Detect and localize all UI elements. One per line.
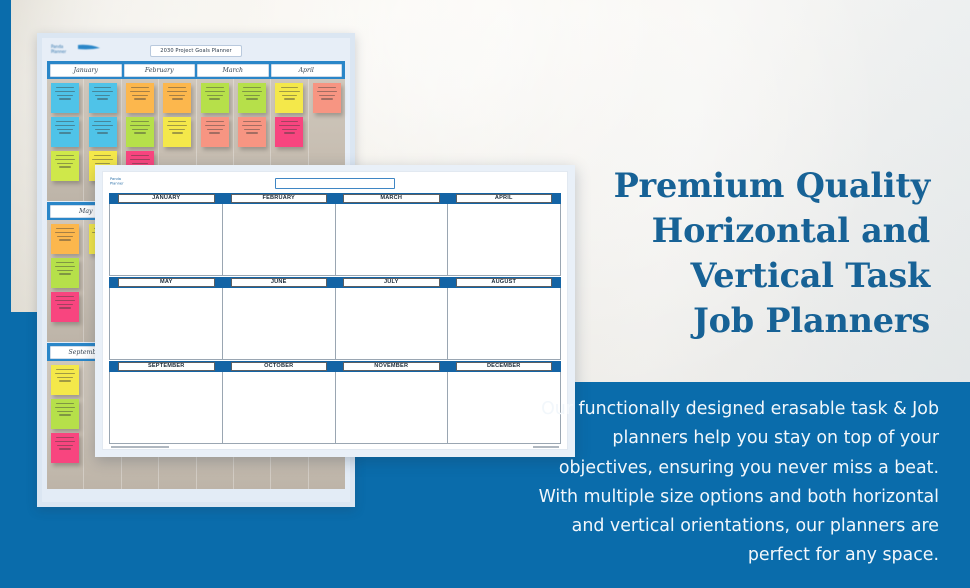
month-cells-row-3: [109, 372, 561, 444]
sticky-note[interactable]: [201, 117, 229, 147]
sticky-note[interactable]: [51, 224, 79, 254]
sticky-note[interactable]: [163, 117, 191, 147]
planner-title-input[interactable]: [275, 178, 395, 189]
sticky-note[interactable]: [51, 258, 79, 288]
month-label-january: January: [50, 64, 122, 77]
month-column: [47, 361, 84, 489]
month-label-april: April: [271, 64, 343, 77]
front-planner-row-1: JANUARY FEBRUARY MARCH APRIL: [109, 193, 561, 276]
month-cell-september[interactable]: [110, 372, 223, 443]
sticky-note[interactable]: [238, 83, 266, 113]
sticky-note[interactable]: [313, 83, 341, 113]
sticky-note[interactable]: [51, 433, 79, 463]
month-label-september: SEPTEMBER: [118, 362, 215, 371]
brand-logo-icon: Panda Planner: [110, 175, 152, 187]
month-cells-row-1: [109, 204, 561, 276]
month-label-june: JUNE: [231, 278, 328, 287]
sticky-note[interactable]: [126, 83, 154, 113]
headline-line-2: Horizontal and: [530, 208, 930, 253]
month-label-november: NOVEMBER: [343, 362, 440, 371]
description-paragraph: Our functionally designed erasable task …: [519, 395, 939, 571]
month-label-march: MARCH: [343, 194, 440, 203]
footer-mark-left: [111, 446, 169, 448]
month-cell-june[interactable]: [223, 288, 336, 359]
month-label-october: OCTOBER: [231, 362, 328, 371]
month-cell-october[interactable]: [223, 372, 336, 443]
month-label-december: DECEMBER: [456, 362, 553, 371]
back-planner-footer: [47, 490, 345, 492]
month-header-bar: JANUARY FEBRUARY MARCH APRIL: [109, 193, 561, 204]
svg-text:Panda: Panda: [110, 177, 121, 181]
front-planner-footer: [109, 445, 561, 448]
sticky-note[interactable]: [89, 117, 117, 147]
sticky-note[interactable]: [126, 117, 154, 147]
sticky-note[interactable]: [275, 117, 303, 147]
front-planner-product-image[interactable]: Panda Planner JANUARY FEBRUARY MARCH APR…: [95, 165, 575, 457]
svg-text:Planner: Planner: [110, 181, 124, 185]
sticky-note[interactable]: [51, 151, 79, 181]
month-label-may: MAY: [118, 278, 215, 287]
front-planner-row-3: SEPTEMBER OCTOBER NOVEMBER DECEMBER: [109, 361, 561, 444]
month-cell-november[interactable]: [336, 372, 449, 443]
sticky-note[interactable]: [51, 292, 79, 322]
month-label-january: JANUARY: [118, 194, 215, 203]
sticky-note[interactable]: [163, 83, 191, 113]
left-blue-edge: [0, 0, 11, 390]
month-label-july: JULY: [343, 278, 440, 287]
month-header-bar: MAY JUNE JULY AUGUST: [109, 277, 561, 288]
front-planner-sheet: Panda Planner JANUARY FEBRUARY MARCH APR…: [102, 171, 568, 450]
month-label-february: February: [124, 64, 196, 77]
month-cell-may[interactable]: [110, 288, 223, 359]
front-planner-row-2: MAY JUNE JULY AUGUST: [109, 277, 561, 360]
page-title: Premium Quality Horizontal and Vertical …: [530, 163, 930, 343]
month-cell-march[interactable]: [336, 204, 449, 275]
promo-banner: Panda Planner 2030 Project Goals Planner…: [0, 0, 970, 588]
sticky-note[interactable]: [89, 83, 117, 113]
month-cell-july[interactable]: [336, 288, 449, 359]
month-header-bar: January February March April: [47, 61, 345, 79]
back-planner-title: 2030 Project Goals Planner: [150, 45, 242, 57]
month-header-bar: SEPTEMBER OCTOBER NOVEMBER DECEMBER: [109, 361, 561, 372]
month-cells-row-2: [109, 288, 561, 360]
sticky-note[interactable]: [51, 399, 79, 429]
month-label-february: FEBRUARY: [231, 194, 328, 203]
sticky-note[interactable]: [51, 83, 79, 113]
sticky-note[interactable]: [201, 83, 229, 113]
sticky-note[interactable]: [51, 117, 79, 147]
sticky-note[interactable]: [275, 83, 303, 113]
month-column: [47, 220, 84, 342]
headline-line-4: Job Planners: [530, 298, 930, 343]
month-cell-february[interactable]: [223, 204, 336, 275]
sticky-note[interactable]: [238, 117, 266, 147]
month-column: [47, 79, 84, 201]
svg-text:Planner: Planner: [51, 49, 67, 54]
month-cell-january[interactable]: [110, 204, 223, 275]
headline-line-3: Vertical Task: [530, 253, 930, 298]
headline-line-1: Premium Quality: [530, 163, 930, 208]
month-label-march: March: [197, 64, 269, 77]
brand-logo-icon: Panda Planner: [50, 42, 102, 57]
sticky-note[interactable]: [51, 365, 79, 395]
